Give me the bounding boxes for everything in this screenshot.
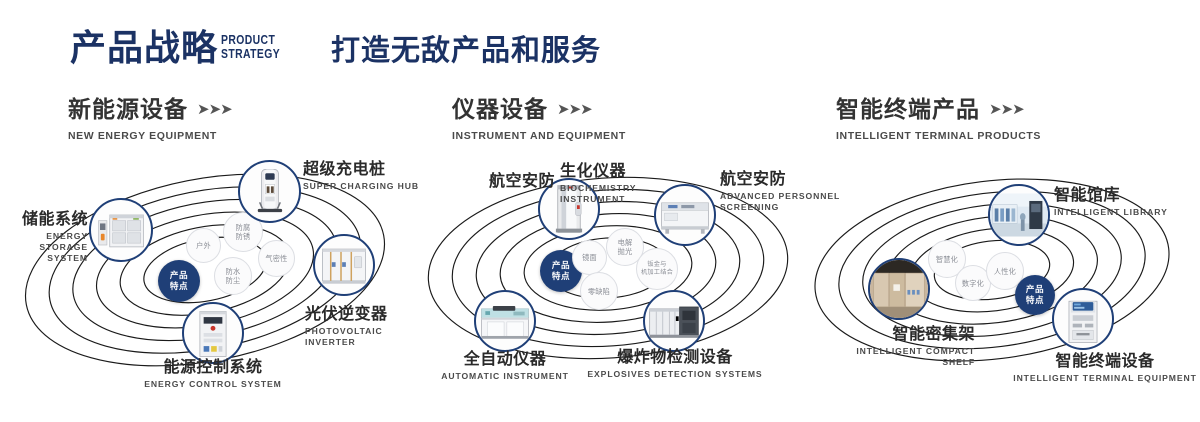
compact-shelf-icon	[870, 260, 928, 318]
detection-rack-icon	[645, 292, 703, 350]
product-node-aviation-screening[interactable]	[654, 184, 716, 246]
feature-bubble-outdoor: 户外	[186, 228, 221, 263]
chevron-right-icon: ➤➤➤	[989, 97, 1024, 123]
chevron-right-icon: ➤➤➤	[197, 97, 232, 123]
section-heading-cn-text: 仪器设备	[452, 96, 548, 122]
product-label-energy-control: 能源控制系统 ENERGY CONTROL SYSTEM	[128, 358, 298, 390]
feature-bubble-label: 零缺陷	[588, 287, 610, 296]
feature-core-line2: 特点	[552, 271, 570, 281]
product-label-cn: 智能馆库	[1054, 186, 1194, 205]
page-title-cn: 产品战略	[70, 26, 218, 70]
section-heading-cn-text: 智能终端产品	[836, 96, 980, 122]
infographic-root: 产品战略 PRODUCT STRATEGY 打造无敌产品和服务 新能源设备➤➤➤…	[0, 0, 1200, 422]
product-label-intelligent-library: 智能馆库 INTELLIGENT LIBRARY	[1054, 186, 1194, 218]
product-label-en: ENERGY CONTROL SYSTEM	[128, 379, 298, 390]
section-heading-instrument: 仪器设备➤➤➤ INSTRUMENT AND EQUIPMENT	[452, 96, 626, 142]
feature-bubble-label: 智慧化	[936, 255, 958, 264]
product-label-cn: 储能系统	[0, 210, 88, 229]
section-heading-intelligent-terminal: 智能终端产品➤➤➤ INTELLIGENT TERMINAL PRODUCTS	[836, 96, 1041, 142]
product-label-en: INTELLIGENT TERMINAL EQUIPMENT	[1010, 373, 1200, 384]
product-node-energy-storage[interactable]	[89, 198, 153, 262]
section-heading-new-energy: 新能源设备➤➤➤ NEW ENERGY EQUIPMENT	[68, 96, 232, 142]
page-subtitle: 打造无敌产品和服务	[331, 33, 601, 69]
cluster-intelligent-terminal: 智慧化 数字化 人性化 产品 特点	[800, 150, 1200, 400]
feature-core-line2: 特点	[1026, 295, 1044, 305]
inverter-cabinet-icon	[315, 236, 373, 294]
product-label-en: AUTOMATIC INSTRUMENT	[425, 371, 585, 382]
cluster-instrument: 产品 特点 镜面 电解 抛光 钣金与 机加工结合 零缺陷	[400, 150, 820, 400]
library-room-icon	[990, 186, 1048, 244]
feature-bubble-zerodefect: 零缺陷	[580, 272, 618, 310]
chevron-right-icon: ➤➤➤	[557, 97, 592, 123]
section-heading-en: INTELLIGENT TERMINAL PRODUCTS	[836, 130, 1041, 142]
product-node-automatic-instrument[interactable]	[474, 290, 536, 352]
product-node-explosives-detection[interactable]	[643, 290, 705, 352]
product-node-charging-hub[interactable]	[238, 160, 301, 223]
feature-bubble-label: 数字化	[962, 279, 984, 288]
feature-core-line1: 产品	[552, 260, 570, 270]
product-label-en: ENERGY STORAGE SYSTEM	[0, 231, 88, 264]
page-title-en-line1: PRODUCT	[221, 33, 280, 47]
feature-bubble-label: 户外	[196, 241, 211, 250]
feature-bubble-sheetmetal: 钣金与 机加工结合	[636, 248, 678, 290]
section-heading-cn: 智能终端产品➤➤➤	[836, 96, 1041, 126]
product-label-cn: 爆炸物检测设备	[585, 348, 765, 367]
feature-bubble-label: 人性化	[994, 267, 1016, 276]
product-label-energy-storage: 储能系统 ENERGY STORAGE SYSTEM	[0, 210, 88, 264]
product-label-cn: 智能密集架	[800, 325, 975, 344]
product-label-cn: 生化仪器	[560, 162, 680, 181]
product-label-aviation-security-extra: 航空安防	[390, 172, 555, 191]
product-label-en: INTELLIGENT LIBRARY	[1054, 207, 1194, 218]
control-cabinet-icon	[184, 304, 242, 362]
product-node-pv-inverter[interactable]	[313, 234, 375, 296]
product-node-compact-shelf[interactable]	[868, 258, 930, 320]
charging-pile-icon	[240, 162, 299, 221]
feature-bubble-label: 防水 防尘	[226, 267, 241, 285]
auto-analyzer-icon	[476, 292, 534, 350]
section-heading-cn-text: 新能源设备	[68, 96, 188, 122]
feature-bubble-waterproof: 防水 防尘	[214, 257, 252, 295]
feature-bubble-mirror: 镜面	[572, 240, 607, 275]
product-label-en: EXPLOSIVES DETECTION SYSTEMS	[585, 369, 765, 380]
feature-core-line1: 产品	[170, 270, 188, 280]
section-heading-en: INSTRUMENT AND EQUIPMENT	[452, 130, 626, 142]
scanner-machine-icon	[656, 186, 714, 244]
product-label-compact-shelf: 智能密集架 INTELLIGENT COMPACT SHELF	[800, 325, 975, 368]
kiosk-terminal-icon	[1054, 290, 1112, 348]
product-label-explosives-detection: 爆炸物检测设备 EXPLOSIVES DETECTION SYSTEMS	[585, 348, 765, 380]
product-label-en: INTELLIGENT COMPACT SHELF	[800, 346, 975, 368]
page-title-en: PRODUCT STRATEGY	[221, 33, 280, 61]
product-node-terminal-equipment[interactable]	[1052, 288, 1114, 350]
product-label-cn: 全自动仪器	[425, 350, 585, 369]
product-label-automatic-instrument: 全自动仪器 AUTOMATIC INSTRUMENT	[425, 350, 585, 382]
product-label-cn: 航空安防	[390, 172, 555, 191]
battery-cabinet-icon	[91, 200, 151, 260]
feature-core-line1: 产品	[1026, 284, 1044, 294]
feature-core-bubble: 产品 特点	[158, 260, 200, 302]
feature-bubble-airtight: 气密性	[258, 240, 295, 277]
feature-core-line2: 特点	[170, 281, 188, 291]
product-label-cn: 智能终端设备	[1010, 352, 1200, 371]
product-node-intelligent-library[interactable]	[988, 184, 1050, 246]
product-label-cn: 能源控制系统	[128, 358, 298, 377]
feature-core-bubble: 产品 特点	[1015, 275, 1055, 315]
feature-bubble-label: 防腐 防锈	[236, 223, 251, 241]
feature-bubble-label: 钣金与 机加工结合	[641, 261, 673, 277]
cluster-new-energy: 产品 特点 户外 防腐 防锈 防水 防尘 气密性	[0, 150, 420, 400]
page-title-en-line2: STRATEGY	[221, 47, 280, 61]
feature-bubble-label: 电解 抛光	[618, 238, 633, 256]
section-heading-en: NEW ENERGY EQUIPMENT	[68, 130, 232, 142]
section-heading-cn: 新能源设备➤➤➤	[68, 96, 232, 126]
product-label-terminal-equipment: 智能终端设备 INTELLIGENT TERMINAL EQUIPMENT	[1010, 352, 1200, 384]
section-heading-cn: 仪器设备➤➤➤	[452, 96, 626, 126]
feature-bubble-label: 气密性	[265, 254, 287, 263]
product-node-energy-control[interactable]	[182, 302, 244, 364]
feature-bubble-label: 镜面	[582, 253, 597, 262]
page-header: 产品战略 PRODUCT STRATEGY 打造无敌产品和服务	[0, 0, 1200, 88]
